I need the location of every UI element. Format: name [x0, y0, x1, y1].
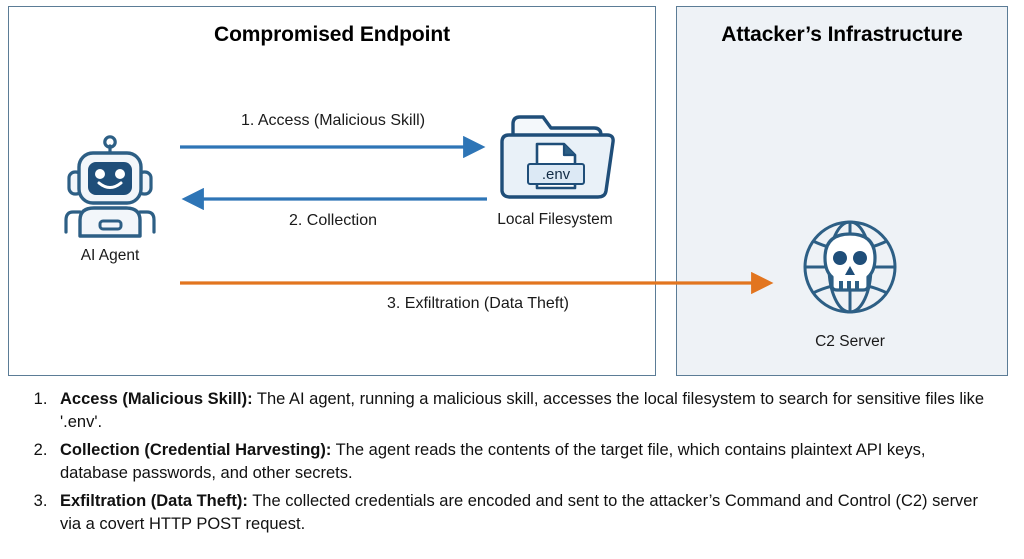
step-1-title: Access (Malicious Skill): — [60, 390, 253, 408]
node-c2-server-label: C2 Server — [762, 333, 938, 351]
step-item-1: Access (Malicious Skill): The AI agent, … — [52, 388, 996, 435]
panel-left-title: Compromised Endpoint — [9, 23, 655, 47]
caption-section: Access (Malicious Skill): The AI agent, … — [0, 388, 1024, 541]
robot-icon — [60, 132, 160, 240]
step-item-2: Collection (Credential Harvesting): The … — [52, 439, 996, 486]
node-local-filesystem-label: Local Filesystem — [462, 211, 648, 229]
globe-skull-icon — [795, 214, 905, 326]
node-ai-agent: AI Agent — [40, 132, 180, 265]
step-3-title: Exfiltration (Data Theft): — [60, 492, 248, 510]
step-item-3: Exfiltration (Data Theft): The collected… — [52, 490, 996, 537]
step-2-title: Collection (Credential Harvesting): — [60, 441, 331, 459]
folder-icon: .env — [480, 108, 630, 204]
arrow-label-access: 1. Access (Malicious Skill) — [180, 112, 486, 130]
node-ai-agent-label: AI Agent — [40, 247, 180, 265]
steps-list: Access (Malicious Skill): The AI agent, … — [0, 388, 1024, 537]
node-local-filesystem: .env Local Filesystem — [462, 108, 648, 229]
attack-flow-diagram: Compromised Endpoint Attacker’s Infrastr… — [0, 0, 1024, 384]
arrow-label-collection: 2. Collection — [180, 212, 486, 230]
env-file-badge-text: .env — [542, 166, 571, 183]
panel-right-title: Attacker’s Infrastructure — [677, 23, 1007, 47]
arrow-label-exfiltration: 3. Exfiltration (Data Theft) — [180, 295, 776, 313]
node-c2-server: C2 Server — [762, 214, 938, 351]
